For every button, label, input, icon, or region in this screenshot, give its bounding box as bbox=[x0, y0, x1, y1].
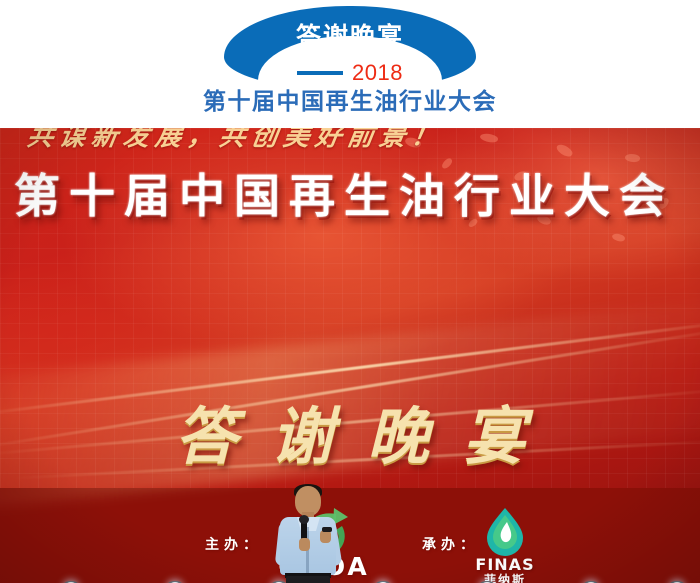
event-photo: 共谋新发展，共创美好前景！ 第十届中国再生油行业大会 答谢晚宴 主办： COOA… bbox=[0, 128, 700, 583]
conference-title: 第十届中国再生油行业大会 bbox=[0, 88, 700, 116]
backdrop-headline: 第十届中国再生油行业大会 bbox=[14, 168, 700, 224]
finas-en-text: FINAS bbox=[468, 557, 542, 573]
banquet-title: 答谢晚宴 bbox=[224, 22, 476, 52]
sponsor-row: 主办： COOA 承办： FINAS 菲纳斯 bbox=[0, 508, 700, 583]
speaker-trousers bbox=[286, 576, 330, 583]
backdrop-cursive-line: 共谋新发展，共创美好前景！ bbox=[25, 128, 670, 150]
speaker-with-microphone bbox=[277, 486, 339, 583]
year-label: 2018 bbox=[352, 62, 403, 84]
water-drop-icon bbox=[483, 506, 527, 556]
backdrop-calligraphy: 答谢晚宴 bbox=[0, 386, 700, 476]
year-dash-icon bbox=[297, 71, 343, 75]
year-row: 2018 bbox=[224, 62, 476, 84]
speaker-watch bbox=[322, 527, 332, 532]
event-logo-header: 答谢晚宴 2018 第十届中国再生油行业大会 bbox=[0, 0, 700, 128]
blue-arch-logo: 答谢晚宴 2018 bbox=[224, 6, 476, 90]
host-label: 主办： bbox=[205, 534, 262, 554]
finas-water-drop-logo: FINAS 菲纳斯 bbox=[468, 506, 542, 583]
screenshot-root: 答谢晚宴 2018 第十届中国再生油行业大会 bbox=[0, 0, 700, 583]
